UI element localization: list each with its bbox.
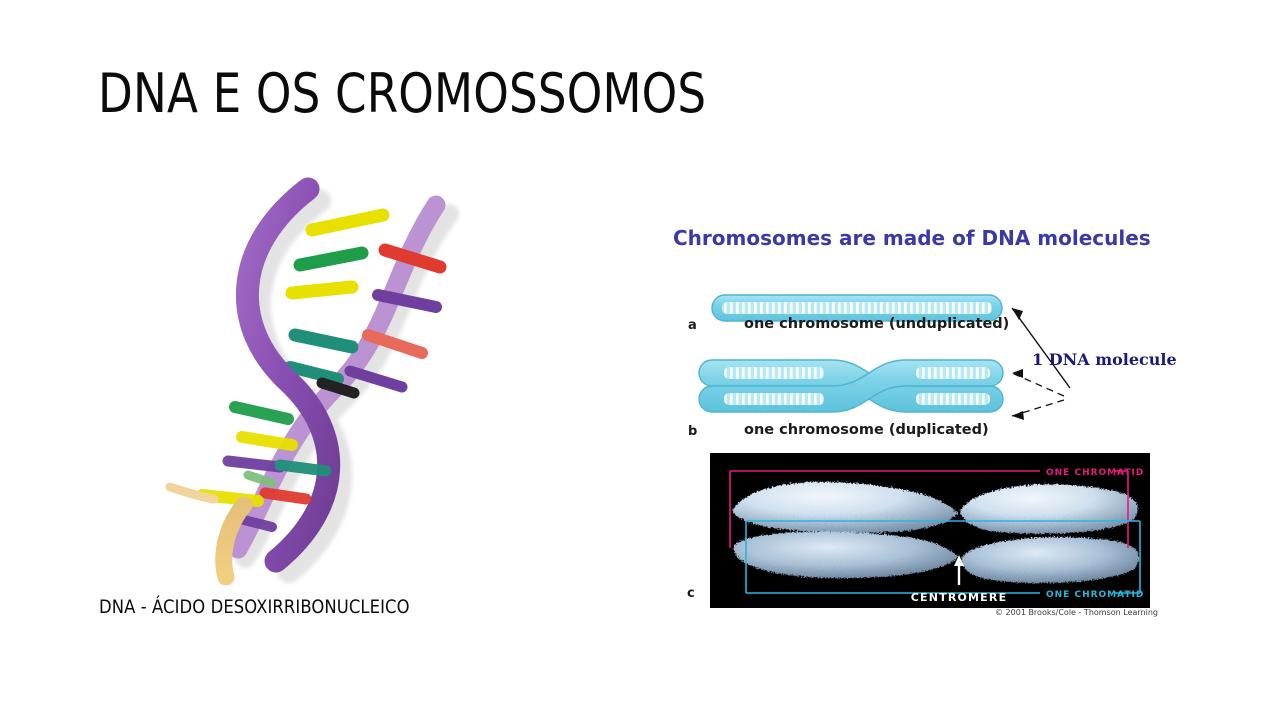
svg-text:ONE CHROMATID: ONE CHROMATID	[1046, 468, 1144, 478]
svg-text:CENTROMERE: CENTROMERE	[911, 591, 1008, 604]
page-title: DNA E OS CROMOSSOMOS	[98, 66, 935, 123]
dna-molecule-annotation: 1 DNA molecule	[1032, 350, 1177, 369]
chromosome-schematic	[640, 248, 1210, 448]
chromosome-caption-a: one chromosome (unduplicated)	[744, 316, 1009, 332]
chromosome-letter-b: b	[688, 424, 697, 439]
chromosome-micrograph: ONE CHROMATID ONE CHROMATID CENTROMERE	[710, 453, 1150, 608]
slide-canvas: DNA E OS CROMOSSOMOS	[0, 0, 1280, 720]
chromosome-caption-b: one chromosome (duplicated)	[744, 422, 989, 438]
dna-double-helix-illustration	[140, 175, 490, 585]
svg-text:ONE CHROMATID: ONE CHROMATID	[1046, 590, 1144, 600]
chromosome-letter-a: a	[688, 318, 697, 333]
chromosome-letter-c: c	[687, 586, 695, 601]
chromosome-diagram: Chromosomes are made of DNA molecules	[640, 218, 1210, 633]
diagram-heading: Chromosomes are made of DNA molecules	[673, 226, 1151, 250]
slide-subtitle: DNA - ÁCIDO DESOXIRRIBONUCLEICO	[99, 596, 410, 618]
photo-credit: © 2001 Brooks/Cole - Thomson Learning	[995, 608, 1158, 617]
